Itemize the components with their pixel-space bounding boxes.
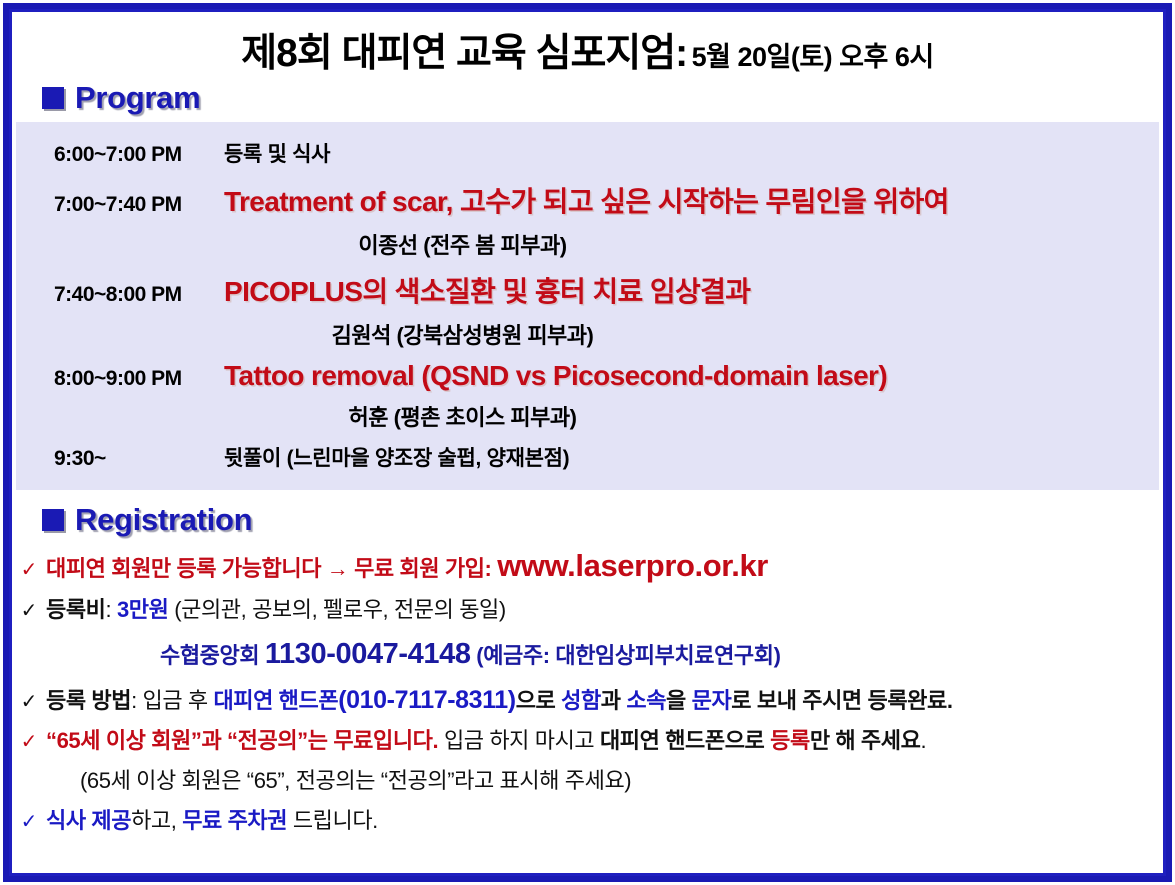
program-activity-title: 뒷풀이 (느린마을 양조장 술펍, 양재본점) [224,442,569,472]
text-segment: 과 [601,688,627,713]
registration-line: (65세 이상 회원은 “65”, 전공의는 “전공의”라고 표시해 주세요) [12,759,1163,799]
text-segment: 무료 주차권 [182,808,287,833]
text-segment: (예금주: 대한임상피부치료연구회) [471,643,781,668]
program-panel: 6:00~7:00 PM등록 및 식사7:00~7:40 PMTreatment… [16,122,1159,490]
program-row: 8:00~9:00 PMTattoo removal (QSND vs Pico… [16,354,1159,398]
registration-line: 수협중앙회 1130-0047-4148 (예금주: 대한임상피부치료연구회) [12,628,1163,679]
text-segment: (65세 이상 회원은 “65”, 전공의는 “전공의”라고 표시해 주세요) [80,768,631,793]
check-mark-icon: ✓ [12,732,46,752]
text-segment: 문자 [692,688,732,713]
program-time: 7:00~7:40 PM [16,193,224,217]
section-heading-program: Program [12,80,1163,116]
poster-root: 제8회 대피연 교육 심포지엄: 5월 20일(토) 오후 6시 Program… [0,0,1175,885]
page-title-date: 5월 20일(토) 오후 6시 [692,42,934,72]
registration-line: ✓대피연 회원만 등록 가능합니다 → 무료 회원 가입: www.laserp… [12,544,1163,588]
text-segment: 대피연 핸드폰 [213,688,338,713]
text-segment: 만 해 주세요 [810,728,921,753]
text-segment: 수협중앙회 [160,643,265,668]
text-segment: 등록 [770,728,810,753]
program-row: 7:00~7:40 PMTreatment of scar, 고수가 되고 싶은… [16,174,1159,226]
check-mark-icon: ✓ [12,560,46,580]
program-row: 6:00~7:00 PM등록 및 식사 [16,132,1159,174]
poster-inner-border: 제8회 대피연 교육 심포지엄: 5월 20일(토) 오후 6시 Program… [9,9,1166,876]
program-row: 9:30~뒷풀이 (느린마을 양조장 술펍, 양재본점) [16,436,1159,478]
square-bullet-icon [42,87,64,109]
program-lecture-title: Treatment of scar, 고수가 되고 싶은 시작하는 무림인을 위… [224,180,949,220]
section-heading-registration-label: Registration [75,502,252,538]
program-speaker: 허훈 (평촌 초이스 피부과) [16,398,909,436]
section-heading-program-label: Program [75,80,200,116]
check-mark-icon: ✓ [12,601,46,621]
registration-block: ✓대피연 회원만 등록 가능합니다 → 무료 회원 가입: www.laserp… [12,538,1163,839]
text-segment: 1130-0047-4148 [265,638,471,670]
text-segment: www.laserpro.or.kr [497,548,768,583]
text-segment: 등록비 [46,597,106,622]
registration-line-text: 수협중앙회 1130-0047-4148 (예금주: 대한임상피부치료연구회) [160,646,781,668]
registration-line-text: 등록 방법: 입금 후 대피연 핸드폰(010-7117-8311)으로 성함과… [46,683,953,715]
program-time: 9:30~ [16,447,224,471]
registration-line-text: 등록비: 3만원 (군의관, 공보의, 펠로우, 전문의 동일) [46,592,506,624]
text-segment: (군의관, 공보의, 펠로우, 전문의 동일) [168,597,505,622]
program-speaker: 김원석 (강북삼성병원 피부과) [16,316,909,354]
registration-line-text: (65세 이상 회원은 “65”, 전공의는 “전공의”라고 표시해 주세요) [80,763,631,795]
registration-line: ✓등록 방법: 입금 후 대피연 핸드폰(010-7117-8311)으로 성함… [12,679,1163,719]
program-lecture-title: PICOPLUS의 색소질환 및 흉터 치료 임상결과 [224,270,750,310]
text-segment: 대피연 핸드폰으로 [600,728,770,753]
registration-line-text: “65세 이상 회원”과 “전공의”는 무료입니다. 입금 하지 마시고 대피연… [46,723,926,755]
page-title-main: 제8회 대피연 교육 심포지엄: [241,32,687,75]
text-segment: 으로 [516,688,561,713]
text-segment: 성함 [561,688,601,713]
text-segment: 드립니다. [287,808,378,833]
text-segment: 로 보내 주시면 등록완료. [731,688,952,713]
program-lecture-title: Tattoo removal (QSND vs Picosecond-domai… [224,360,887,392]
text-segment: 을 [666,688,692,713]
text-segment: 3만원 [117,597,169,622]
program-speaker: 이종선 (전주 봄 피부과) [16,226,909,264]
registration-line-text: 대피연 회원만 등록 가능합니다 → 무료 회원 가입: www.laserpr… [46,548,768,584]
registration-line: ✓식사 제공하고, 무료 주차권 드립니다. [12,799,1163,839]
square-bullet-icon [42,509,64,531]
program-time: 8:00~9:00 PM [16,367,224,391]
text-segment: . [920,728,926,753]
text-segment: 소속 [626,688,666,713]
program-time: 6:00~7:00 PM [16,143,224,167]
text-segment: 입금 하지 마시고 [438,728,600,753]
program-activity-title: 등록 및 식사 [224,138,330,168]
registration-line: ✓등록비: 3만원 (군의관, 공보의, 펠로우, 전문의 동일) [12,588,1163,628]
text-segment: 식사 제공 [46,808,131,833]
text-segment: “65세 이상 회원”과 “전공의”는 무료입니다. [46,728,438,753]
text-segment: : 입금 후 [131,688,213,713]
text-segment: 등록 방법 [46,688,131,713]
text-segment: 하고, [131,808,182,833]
poster-outer-border: 제8회 대피연 교육 심포지엄: 5월 20일(토) 오후 6시 Program… [3,3,1172,882]
registration-line-text: 식사 제공하고, 무료 주차권 드립니다. [46,803,378,835]
section-heading-registration: Registration [12,502,1163,538]
check-mark-icon: ✓ [12,692,46,712]
text-segment: : [106,597,117,622]
text-segment: 대피연 회원만 등록 가능합니다 → 무료 회원 가입: [46,556,497,581]
check-mark-icon: ✓ [12,812,46,832]
text-segment: (010-7117-8311) [338,686,515,714]
program-row: 7:40~8:00 PMPICOPLUS의 색소질환 및 흉터 치료 임상결과 [16,264,1159,316]
program-time: 7:40~8:00 PM [16,283,224,307]
page-title: 제8회 대피연 교육 심포지엄: 5월 20일(토) 오후 6시 [12,12,1163,78]
registration-line: ✓“65세 이상 회원”과 “전공의”는 무료입니다. 입금 하지 마시고 대피… [12,719,1163,759]
